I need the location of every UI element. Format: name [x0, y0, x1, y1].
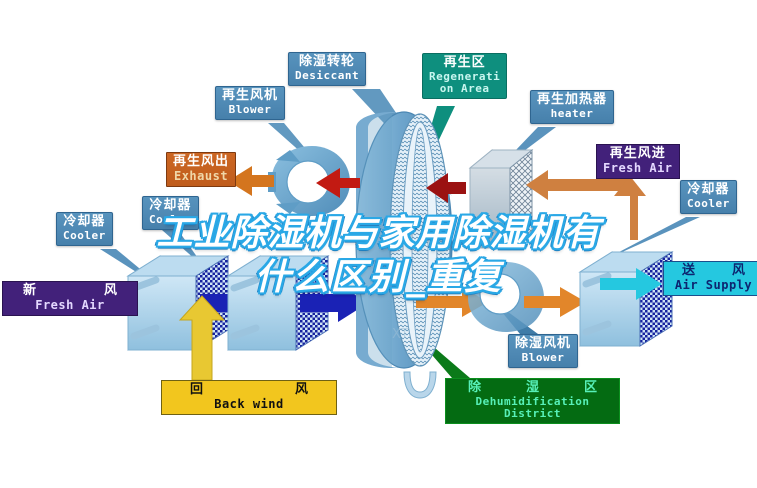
- callout-dehumidification-blower-cn: 除湿风机: [515, 337, 571, 352]
- callout-regeneration-heater-en: heater: [537, 108, 607, 120]
- callout-dehumidification-blower-en: Blower: [515, 352, 571, 364]
- arrow-process-3: [540, 284, 592, 322]
- schematic-artwork: XT: [0, 0, 757, 488]
- callout-cooler-mid-en: Cooler: [149, 214, 192, 226]
- arrow-process-2: [300, 284, 368, 322]
- callout-regeneration-area-cn: 再生区: [429, 56, 500, 71]
- callout-cooler-mid[interactable]: 冷却器 Cooler: [142, 196, 199, 230]
- arrow-back-wind-up: [180, 296, 224, 380]
- arrow-air-supply: [600, 268, 662, 300]
- callout-regeneration-exhaust[interactable]: 再生风出 Exhaust: [166, 152, 236, 187]
- callout-cooler-right[interactable]: 冷却器 Cooler: [680, 180, 737, 214]
- callout-desiccant-wheel-cn: 除湿转轮: [295, 55, 359, 70]
- regeneration-blower-fan: [268, 146, 350, 216]
- cooler-unit-2: [228, 256, 328, 350]
- arrow-regen-to-blower: [316, 168, 360, 198]
- regeneration-heater-coil: [470, 150, 532, 248]
- diagram-canvas: XT: [0, 0, 757, 488]
- svg-text:XT: XT: [392, 327, 409, 342]
- callout-air-supply-en: Air Supply: [670, 279, 757, 292]
- callout-regeneration-area-en-line2: on Area: [429, 83, 500, 95]
- callout-air-supply-cn: 送 风: [670, 264, 757, 279]
- callout-regeneration-heater[interactable]: 再生加热器 heater: [530, 90, 614, 124]
- callout-fresh-air-intake-cn: 新 风: [9, 284, 131, 299]
- callout-cooler-left-en: Cooler: [63, 230, 106, 242]
- arrow-fresh-air-up: [614, 176, 646, 240]
- callout-regeneration-fresh-air[interactable]: 再生风进 Fresh Air: [596, 144, 680, 179]
- callout-cooler-right-en: Cooler: [687, 198, 730, 210]
- callout-regeneration-area-en-line1: Regenerati: [429, 71, 500, 83]
- dehumidification-blower-fan: [468, 262, 544, 332]
- callout-back-wind[interactable]: 回 风 Back wind: [161, 380, 337, 415]
- cooler-unit-1: [128, 256, 228, 350]
- callout-regeneration-blower[interactable]: 再生风机 Blower: [215, 86, 285, 120]
- callout-leaders: [100, 89, 700, 378]
- callout-cooler-left[interactable]: 冷却器 Cooler: [56, 212, 113, 246]
- callout-regeneration-blower-cn: 再生风机: [222, 89, 278, 104]
- callout-regeneration-exhaust-en: Exhaust: [173, 170, 229, 183]
- callout-cooler-right-cn: 冷却器: [687, 183, 730, 198]
- callout-regeneration-heater-cn: 再生加热器: [537, 93, 607, 108]
- callout-desiccant-wheel-en: Desiccant: [295, 70, 359, 82]
- arrow-rotor-out: [416, 287, 488, 317]
- callout-dehumidification-district[interactable]: 除 湿 区 Dehumidification District: [445, 378, 620, 424]
- callout-fresh-air-intake[interactable]: 新 风 Fresh Air: [2, 281, 138, 316]
- callout-air-supply[interactable]: 送 风 Air Supply: [663, 261, 757, 296]
- callout-dehumidification-district-en-line2: District: [452, 408, 613, 420]
- arrow-process-1: [200, 284, 268, 322]
- callout-cooler-left-cn: 冷却器: [63, 215, 106, 230]
- callout-desiccant-wheel[interactable]: 除湿转轮 Desiccant: [288, 52, 366, 86]
- callout-regeneration-blower-en: Blower: [222, 104, 278, 116]
- callout-dehumidification-district-cn: 除 湿 区: [452, 381, 613, 396]
- callout-dehumidification-district-en-line1: Dehumidification: [452, 396, 613, 408]
- callout-dehumidification-blower[interactable]: 除湿风机 Blower: [508, 334, 578, 368]
- callout-fresh-air-intake-en: Fresh Air: [9, 299, 131, 312]
- callout-regeneration-area[interactable]: 再生区 Regenerati on Area: [422, 53, 507, 99]
- callout-regeneration-exhaust-cn: 再生风出: [173, 155, 229, 170]
- callout-back-wind-cn: 回 风: [168, 383, 330, 398]
- arrow-blower-out: [524, 287, 586, 317]
- desiccant-rotor: XT: [356, 112, 452, 398]
- callout-back-wind-en: Back wind: [168, 398, 330, 411]
- callout-cooler-mid-cn: 冷却器: [149, 199, 192, 214]
- cooler-unit-3: [580, 252, 672, 346]
- overlay-watermark-line1: 工业除湿机与家用除湿机有: [0, 212, 757, 256]
- callout-regeneration-fresh-air-cn: 再生风进: [603, 147, 673, 162]
- callout-regeneration-fresh-air-en: Fresh Air: [603, 162, 673, 175]
- arrow-heater-to-rotor: [426, 173, 466, 203]
